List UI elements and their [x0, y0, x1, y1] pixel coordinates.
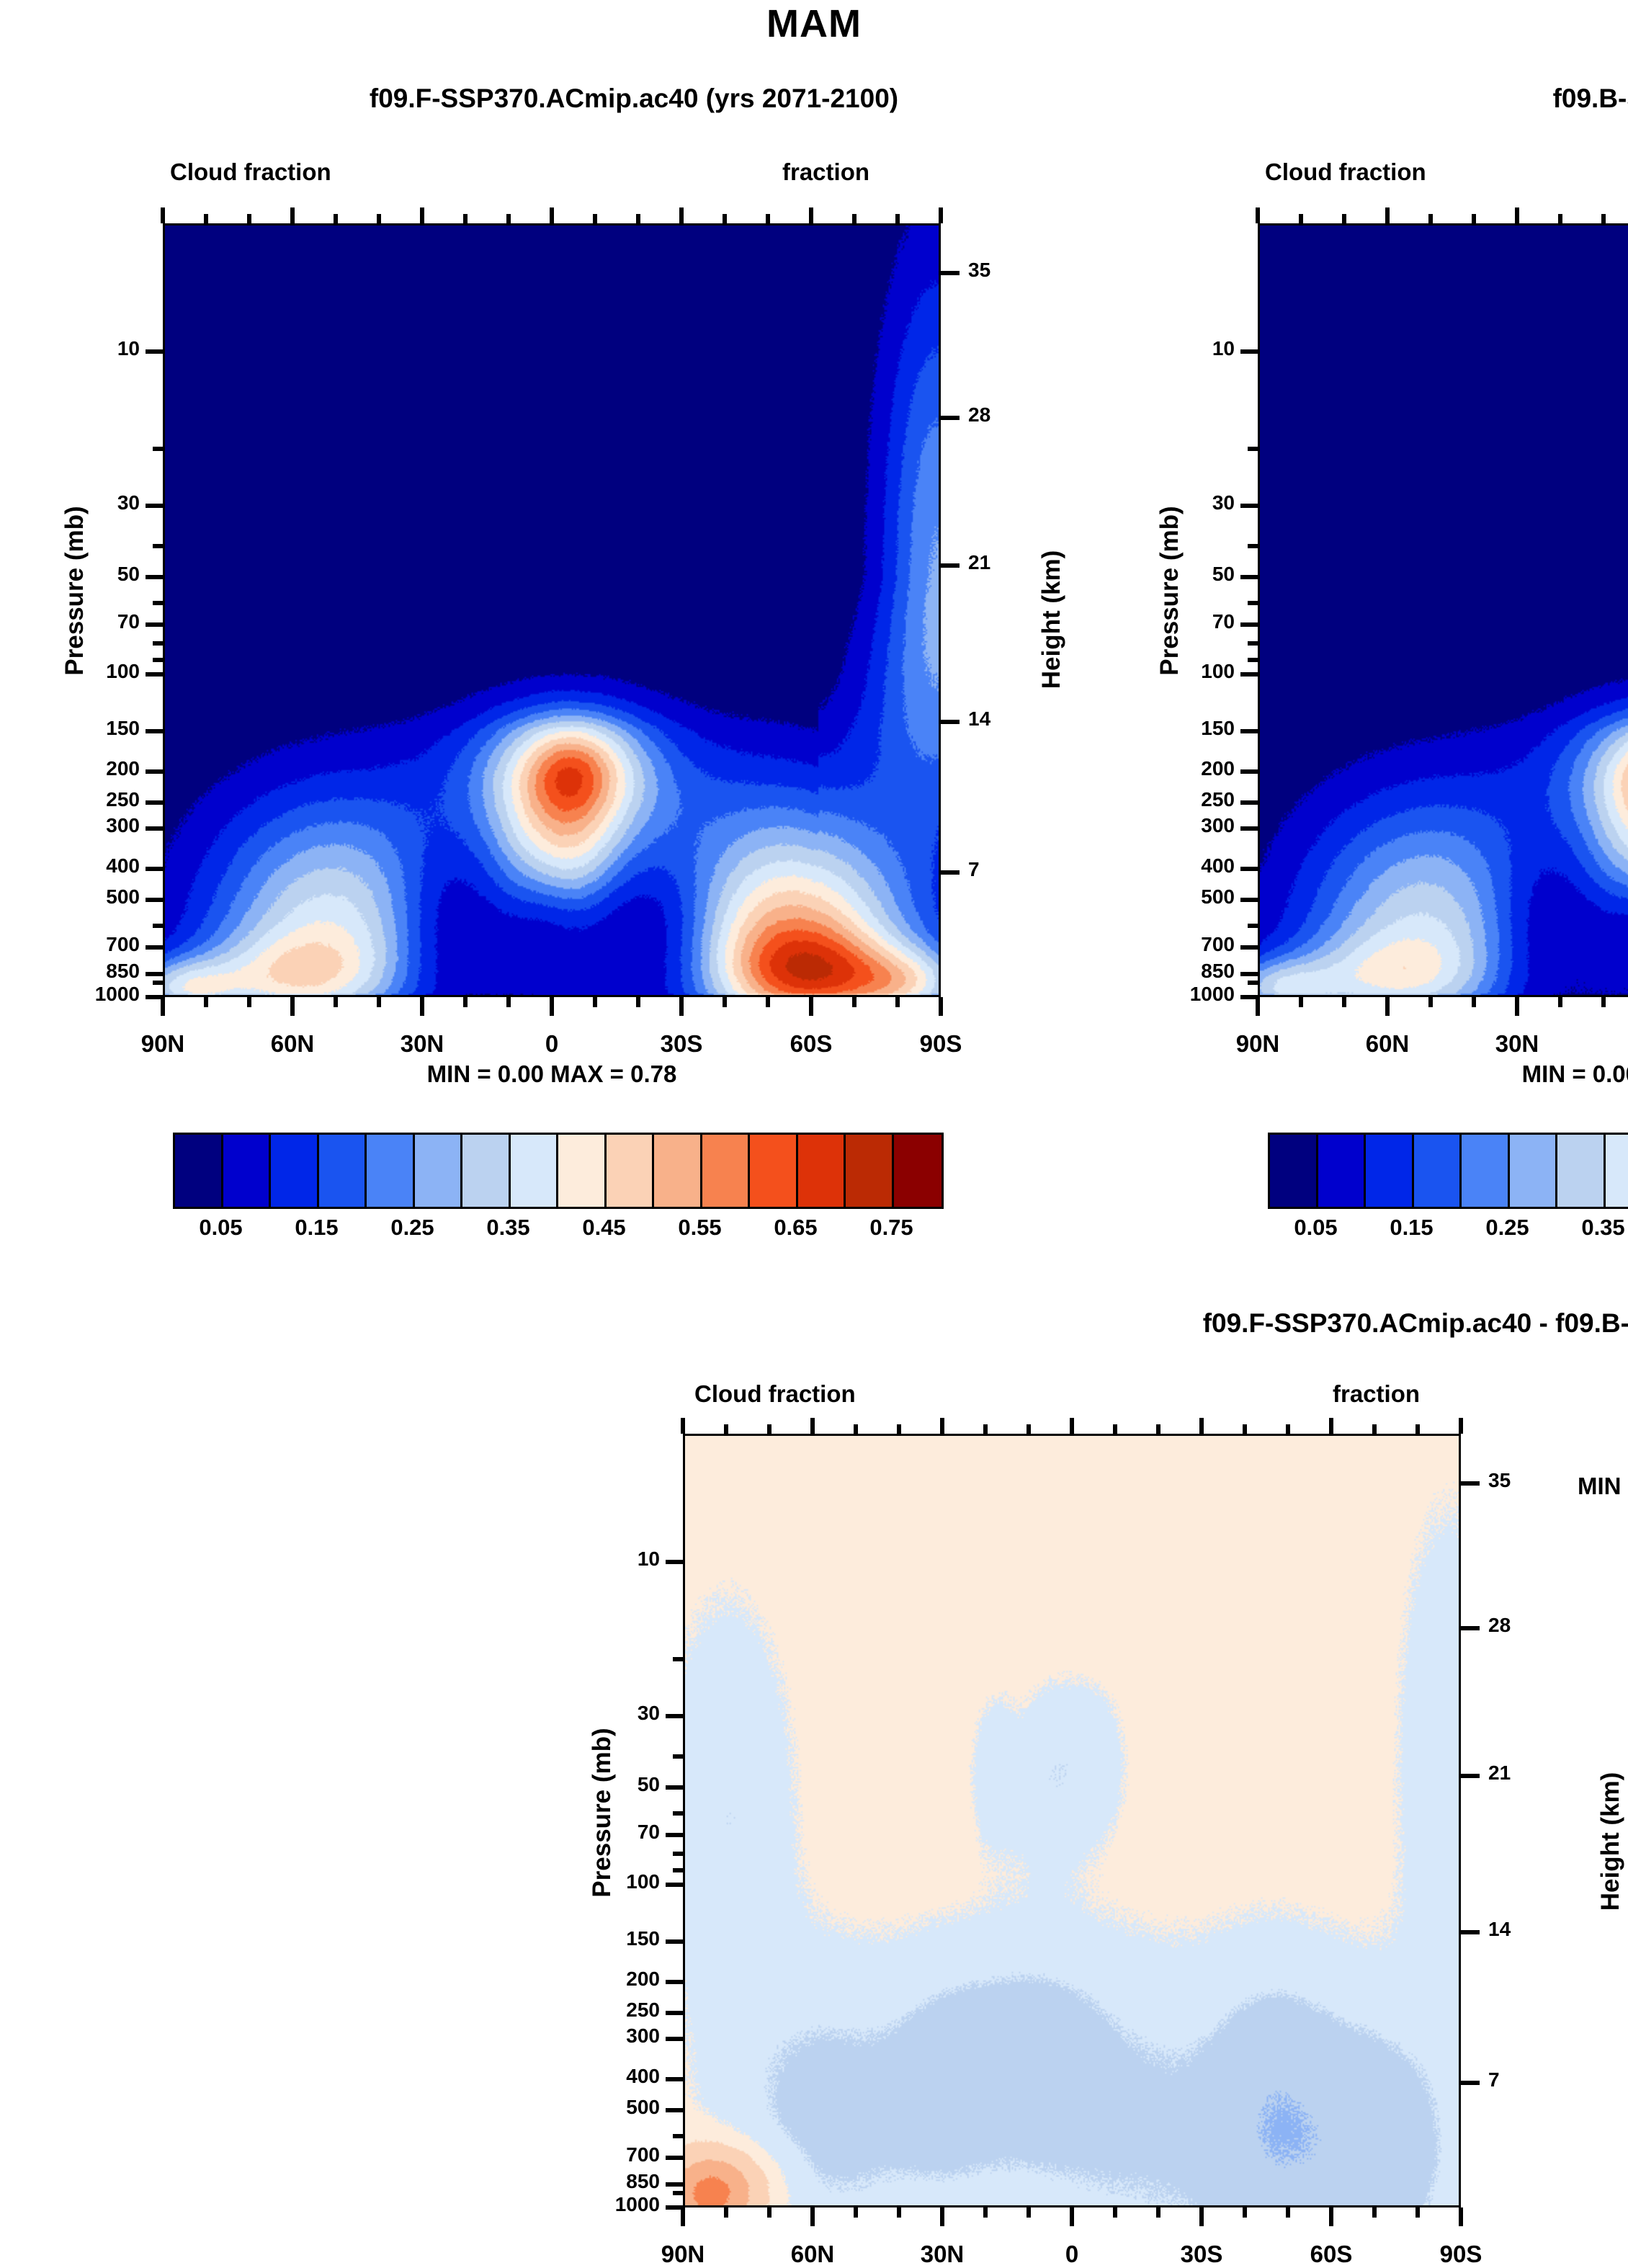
- axis-tick: [724, 2207, 728, 2218]
- axis-tick: [1243, 2207, 1247, 2218]
- axis-tick: [852, 214, 857, 223]
- colorbar-cell: [654, 1135, 702, 1207]
- axis-tick: [723, 214, 727, 223]
- axis-tick: [941, 416, 960, 420]
- axis-tick: [146, 945, 163, 950]
- axis-tick-label: 7: [968, 858, 1026, 881]
- axis-tick: [897, 1424, 901, 1434]
- axis-tick: [153, 658, 163, 662]
- colorbar-tick-label: 0.35: [475, 1215, 542, 1241]
- panel-title-top-left: f09.F-SSP370.ACmip.ac40 (yrs 2071-2100): [130, 84, 1138, 114]
- axis-tick: [1256, 997, 1260, 1016]
- axis-tick: [1329, 1418, 1333, 1434]
- colorbar-cell: [1557, 1135, 1606, 1207]
- colorbar-cell: [798, 1135, 846, 1207]
- axis-tick-label: 30S: [1144, 2241, 1259, 2268]
- axis-tick: [666, 2037, 683, 2041]
- axis-tick: [1461, 1774, 1480, 1778]
- axis-tick: [1240, 672, 1258, 677]
- axis-tick-label: 200: [33, 757, 140, 780]
- axis-tick: [377, 214, 381, 223]
- axis-tick: [377, 997, 381, 1007]
- axis-tick: [681, 1418, 685, 1434]
- panel-subtitle-right-top-left: fraction: [782, 159, 869, 186]
- axis-tick: [666, 1883, 683, 1887]
- axis-tick-label: 0: [1589, 1030, 1628, 1058]
- axis-tick-label: 100: [1128, 660, 1235, 683]
- axis-tick: [666, 1833, 683, 1837]
- axis-tick-label: 1000: [1128, 983, 1235, 1006]
- axis-tick: [1342, 214, 1346, 223]
- minmax-top-right: MIN = 0.00 MAX = 0.71: [1258, 1061, 1628, 1088]
- axis-tick: [1286, 1424, 1290, 1434]
- axis-tick: [666, 1980, 683, 1984]
- axis-tick: [666, 2077, 683, 2081]
- axis-tick: [809, 207, 813, 223]
- colorbar-tick-label: 0.45: [571, 1215, 638, 1241]
- axis-tick: [1240, 729, 1258, 733]
- axis-tick: [1342, 997, 1346, 1007]
- colorbar-top-right: [1268, 1133, 1628, 1209]
- axis-tick: [854, 1424, 858, 1434]
- axis-tick: [673, 1868, 683, 1872]
- axis-tick: [1248, 601, 1258, 605]
- axis-tick-label: 500: [33, 885, 140, 908]
- colorbar-cell: [1510, 1135, 1558, 1207]
- colorbar-cell: [415, 1135, 463, 1207]
- colorbar-cell: [1414, 1135, 1462, 1207]
- colorbar-cell: [1462, 1135, 1510, 1207]
- contour-field-difference: [685, 1436, 1459, 2205]
- axis-tick-label: 700: [33, 933, 140, 956]
- axis-tick-label: 1000: [33, 983, 140, 1006]
- axis-tick-label: 30: [33, 491, 140, 514]
- axis-tick: [895, 997, 900, 1007]
- axis-tick: [290, 997, 295, 1016]
- axis-tick-label: 35: [968, 259, 1026, 282]
- axis-tick: [1299, 214, 1303, 223]
- axis-tick-label: 30N: [1459, 1030, 1575, 1058]
- axis-tick: [1070, 1418, 1074, 1434]
- colorbar-tick-label: 0.65: [763, 1215, 829, 1241]
- axis-tick-label: 700: [1128, 933, 1235, 956]
- axis-tick: [636, 997, 640, 1007]
- axis-tick: [146, 800, 163, 805]
- axis-tick: [1027, 2207, 1031, 2218]
- axis-tick: [1459, 2207, 1463, 2226]
- axis-tick-label: 400: [553, 2065, 660, 2088]
- axis-tick: [673, 1657, 683, 1661]
- axis-tick-label: 150: [1128, 717, 1235, 740]
- colorbar-tick-label: 0.25: [1475, 1215, 1541, 1241]
- colorbar-cell: [223, 1135, 272, 1207]
- axis-tick: [1515, 997, 1519, 1016]
- axis-tick: [1256, 207, 1260, 223]
- axis-tick: [673, 1852, 683, 1856]
- colorbar-cell: [462, 1135, 511, 1207]
- colorbar-cell: [558, 1135, 607, 1207]
- colorbar-tick-label: 0.35: [1570, 1215, 1628, 1241]
- axis-tick-label: 30: [1128, 491, 1235, 514]
- axis-tick: [1248, 981, 1258, 985]
- axis-tick-label: 90N: [1200, 1030, 1315, 1058]
- axis-tick-label: 150: [553, 1927, 660, 1950]
- axis-tick: [1156, 2207, 1160, 2218]
- axis-tick: [1199, 2207, 1204, 2226]
- axis-tick: [146, 575, 163, 579]
- axis-tick-label: 1000: [553, 2193, 660, 2216]
- axis-tick: [1240, 972, 1258, 976]
- axis-tick: [1240, 867, 1258, 871]
- colorbar-cell: [894, 1135, 942, 1207]
- axis-tick: [1113, 1424, 1117, 1434]
- axis-tick-label: 850: [33, 960, 140, 983]
- plot-area-top-right: [1258, 223, 1628, 997]
- axis-tick: [673, 1811, 683, 1816]
- colorbar-tick-label: 0.15: [1379, 1215, 1445, 1241]
- axis-tick: [724, 1424, 728, 1434]
- axis-tick: [1601, 997, 1606, 1007]
- axis-tick-label: 200: [1128, 757, 1235, 780]
- axis-tick-label: 14: [1488, 1918, 1546, 1941]
- axis-tick: [1372, 1424, 1377, 1434]
- axis-tick-label: 300: [33, 814, 140, 837]
- axis-tick-label: 250: [553, 1999, 660, 2022]
- plot-area-top-left: [163, 223, 941, 997]
- axis-tick: [666, 2108, 683, 2112]
- axis-tick-label: 300: [553, 2024, 660, 2048]
- colorbar-cell: [1606, 1135, 1628, 1207]
- axis-tick-label: 60S: [1274, 2241, 1389, 2268]
- axis-tick-label: 250: [1128, 788, 1235, 811]
- axis-tick-label: 250: [33, 788, 140, 811]
- axis-tick-label: 200: [553, 1968, 660, 1991]
- colorbar-cell: [750, 1135, 798, 1207]
- axis-tick: [940, 2207, 944, 2226]
- axis-tick: [767, 1424, 771, 1434]
- axis-tick: [1558, 997, 1562, 1007]
- axis-tick: [1240, 945, 1258, 950]
- axis-tick: [666, 2156, 683, 2160]
- axis-tick: [153, 641, 163, 646]
- axis-tick-label: 150: [33, 717, 140, 740]
- axis-tick: [1070, 2207, 1074, 2226]
- axis-tick: [146, 826, 163, 831]
- minmax-difference: MIN = -0.06 MAX = 0.08: [1578, 1473, 1628, 1500]
- axis-tick: [153, 447, 163, 451]
- axis-tick-label: 10: [33, 337, 140, 360]
- axis-tick: [1240, 826, 1258, 831]
- axis-tick: [1461, 1481, 1480, 1486]
- axis-tick: [153, 924, 163, 928]
- axis-tick: [941, 563, 960, 568]
- y2-axis-label-difference: Height (km): [1596, 1654, 1625, 2029]
- axis-tick-label: 0: [1014, 2241, 1130, 2268]
- y2-axis-label-top-left: Height (km): [1037, 432, 1066, 807]
- axis-tick: [463, 214, 468, 223]
- axis-tick: [1199, 1418, 1204, 1434]
- axis-tick: [146, 972, 163, 976]
- axis-tick: [1240, 622, 1258, 627]
- axis-tick: [939, 207, 943, 223]
- axis-tick: [941, 271, 960, 275]
- axis-tick-label: 10: [553, 1548, 660, 1571]
- axis-tick: [897, 2207, 901, 2218]
- axis-tick: [161, 997, 165, 1016]
- colorbar-cell: [702, 1135, 751, 1207]
- axis-tick-label: 30N: [885, 2241, 1000, 2268]
- axis-tick: [810, 1418, 815, 1434]
- axis-tick: [593, 997, 597, 1007]
- axis-tick: [983, 2207, 988, 2218]
- axis-tick-label: 28: [1488, 1614, 1546, 1637]
- contour-field-top-right: [1260, 226, 1628, 995]
- axis-tick-label: 50: [33, 563, 140, 586]
- main-title: MAM: [0, 1, 1628, 46]
- axis-tick: [983, 1424, 988, 1434]
- colorbar-cell: [511, 1135, 559, 1207]
- axis-tick-label: 400: [33, 854, 140, 878]
- axis-tick: [1415, 1424, 1420, 1434]
- minmax-top-left: MIN = 0.00 MAX = 0.78: [163, 1061, 941, 1088]
- axis-tick: [1027, 1424, 1031, 1434]
- axis-tick: [1240, 800, 1258, 805]
- axis-tick-label: 30S: [624, 1030, 739, 1058]
- axis-tick: [1601, 214, 1606, 223]
- axis-tick: [204, 997, 208, 1007]
- axis-tick: [146, 622, 163, 627]
- axis-tick-label: 28: [968, 403, 1026, 427]
- axis-tick: [1385, 997, 1390, 1016]
- plot-area-difference: [683, 1434, 1461, 2207]
- axis-tick: [1299, 997, 1303, 1007]
- axis-tick: [1329, 2207, 1333, 2226]
- axis-tick: [161, 207, 165, 223]
- axis-tick: [146, 729, 163, 733]
- axis-tick: [809, 997, 813, 1016]
- axis-tick: [1385, 207, 1390, 223]
- axis-tick: [1240, 575, 1258, 579]
- axis-tick-label: 70: [553, 1821, 660, 1844]
- axis-tick-label: 850: [553, 2170, 660, 2193]
- axis-tick: [1415, 2207, 1420, 2218]
- colorbar-tick-label: 0.05: [1283, 1215, 1349, 1241]
- axis-tick: [153, 981, 163, 985]
- axis-tick-label: 50: [1128, 563, 1235, 586]
- axis-tick: [666, 2011, 683, 2015]
- colorbar-cell: [1270, 1135, 1318, 1207]
- axis-tick: [146, 898, 163, 902]
- axis-tick: [334, 997, 338, 1007]
- axis-tick: [1248, 544, 1258, 548]
- axis-tick: [146, 769, 163, 774]
- axis-tick-label: 500: [553, 2096, 660, 2119]
- axis-tick: [550, 207, 554, 223]
- axis-tick-label: 7: [1488, 2068, 1546, 2091]
- axis-tick: [766, 997, 770, 1007]
- axis-tick-label: 90N: [625, 2241, 741, 2268]
- axis-tick: [506, 214, 511, 223]
- axis-tick: [673, 2134, 683, 2138]
- axis-tick: [593, 214, 597, 223]
- axis-tick: [666, 2182, 683, 2187]
- axis-tick: [895, 214, 900, 223]
- axis-tick: [506, 997, 511, 1007]
- axis-tick: [666, 1560, 683, 1564]
- axis-tick: [941, 720, 960, 724]
- axis-tick: [204, 214, 208, 223]
- axis-tick: [636, 214, 640, 223]
- axis-tick-label: 0: [494, 1030, 609, 1058]
- axis-tick: [940, 1418, 944, 1434]
- axis-tick-label: 60N: [235, 1030, 350, 1058]
- colorbar-cell: [1366, 1135, 1414, 1207]
- axis-tick: [1459, 1418, 1463, 1434]
- axis-tick: [1461, 2081, 1480, 2085]
- axis-tick-label: 500: [1128, 885, 1235, 908]
- axis-tick-label: 400: [1128, 854, 1235, 878]
- axis-tick: [673, 1754, 683, 1759]
- axis-tick: [247, 997, 251, 1007]
- axis-tick: [1248, 924, 1258, 928]
- axis-tick: [1248, 658, 1258, 662]
- axis-tick-label: 300: [1128, 814, 1235, 837]
- axis-tick-label: 14: [968, 707, 1026, 731]
- axis-tick: [854, 2207, 858, 2218]
- axis-tick: [681, 2207, 685, 2226]
- axis-tick-label: 60N: [1330, 1030, 1445, 1058]
- axis-tick: [666, 1714, 683, 1718]
- axis-tick: [153, 544, 163, 548]
- axis-tick-label: 50: [553, 1773, 660, 1796]
- axis-tick: [941, 870, 960, 875]
- axis-tick-label: 21: [1488, 1762, 1546, 1785]
- axis-tick: [1240, 504, 1258, 508]
- axis-tick: [1240, 349, 1258, 354]
- axis-tick-label: 30N: [364, 1030, 480, 1058]
- axis-tick: [1472, 214, 1476, 223]
- axis-tick: [939, 997, 943, 1016]
- colorbar-tick-label: 0.05: [188, 1215, 254, 1241]
- axis-tick: [1558, 214, 1562, 223]
- colorbar-tick-label: 0.15: [284, 1215, 350, 1241]
- colorbar-cell: [367, 1135, 415, 1207]
- axis-tick: [1461, 1626, 1480, 1630]
- colorbar-cell: [607, 1135, 655, 1207]
- axis-tick: [679, 207, 684, 223]
- axis-tick: [420, 997, 424, 1016]
- axis-tick: [334, 214, 338, 223]
- axis-tick: [146, 867, 163, 871]
- axis-tick: [767, 2207, 771, 2218]
- axis-tick: [1428, 997, 1433, 1007]
- axis-tick-label: 700: [553, 2143, 660, 2166]
- axis-tick: [852, 997, 857, 1007]
- axis-tick-label: 90S: [883, 1030, 998, 1058]
- axis-tick: [1113, 2207, 1117, 2218]
- axis-tick-label: 100: [33, 660, 140, 683]
- axis-tick-label: 70: [33, 610, 140, 633]
- panel-title-top-right: f09.B-SSP370.ss36 (yrs 2071-2100): [1268, 84, 1628, 114]
- panel-subtitle-left-top-left: Cloud fraction: [170, 159, 331, 186]
- colorbar-cell: [319, 1135, 367, 1207]
- axis-tick: [1248, 447, 1258, 451]
- axis-tick: [723, 997, 727, 1007]
- axis-tick: [146, 349, 163, 354]
- axis-tick-label: 35: [1488, 1469, 1546, 1492]
- axis-tick: [1515, 207, 1519, 223]
- axis-tick: [1240, 769, 1258, 774]
- colorbar-cell: [1318, 1135, 1367, 1207]
- contour-field-top-left: [165, 226, 939, 995]
- axis-tick-label: 70: [1128, 610, 1235, 633]
- axis-tick: [666, 1785, 683, 1790]
- axis-tick-label: 100: [553, 1870, 660, 1893]
- axis-tick-label: 90S: [1403, 2241, 1519, 2268]
- axis-tick-label: 850: [1128, 960, 1235, 983]
- axis-tick: [1286, 2207, 1290, 2218]
- axis-tick: [673, 2191, 683, 2195]
- axis-tick: [1372, 2207, 1377, 2218]
- axis-tick-label: 60N: [755, 2241, 870, 2268]
- axis-tick: [1461, 1930, 1480, 1934]
- colorbar-top-left: [173, 1133, 944, 1209]
- axis-tick-label: 21: [968, 551, 1026, 574]
- axis-tick: [766, 214, 770, 223]
- axis-tick: [247, 214, 251, 223]
- axis-tick: [153, 601, 163, 605]
- axis-tick: [1472, 997, 1476, 1007]
- colorbar-cell: [846, 1135, 894, 1207]
- panel-subtitle-left-top-right: Cloud fraction: [1265, 159, 1426, 186]
- axis-tick: [1428, 214, 1433, 223]
- axis-tick: [810, 2207, 815, 2226]
- axis-tick: [146, 504, 163, 508]
- axis-tick-label: 10: [1128, 337, 1235, 360]
- axis-tick: [666, 1939, 683, 1944]
- panel-subtitle-right-difference: fraction: [1333, 1380, 1420, 1408]
- axis-tick-label: 60S: [753, 1030, 869, 1058]
- axis-tick: [420, 207, 424, 223]
- axis-tick: [1156, 1424, 1160, 1434]
- colorbar-tick-label: 0.55: [667, 1215, 733, 1241]
- axis-tick: [290, 207, 295, 223]
- axis-tick: [1240, 898, 1258, 902]
- panel-subtitle-left-difference: Cloud fraction: [694, 1380, 856, 1408]
- axis-tick: [679, 997, 684, 1016]
- panel-title-difference: f09.F-SSP370.ACmip.ac40 - f09.B-SSP370.s…: [706, 1308, 1628, 1339]
- colorbar-cell: [175, 1135, 223, 1207]
- axis-tick: [146, 672, 163, 677]
- axis-tick: [550, 997, 554, 1016]
- axis-tick: [1248, 641, 1258, 646]
- colorbar-tick-label: 0.25: [380, 1215, 446, 1241]
- colorbar-tick-label: 0.75: [859, 1215, 925, 1241]
- axis-tick: [1243, 1424, 1247, 1434]
- colorbar-cell: [271, 1135, 319, 1207]
- axis-tick: [463, 997, 468, 1007]
- axis-tick-label: 90N: [105, 1030, 220, 1058]
